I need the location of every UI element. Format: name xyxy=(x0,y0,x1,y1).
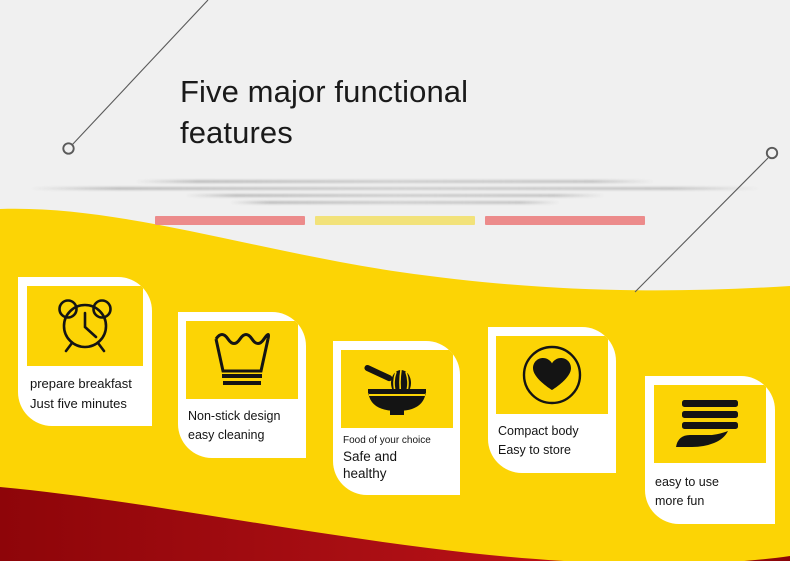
feature-card-easy-to-use[interactable]: easy to use more fun xyxy=(645,376,775,524)
feature-card-text: Compact body Easy to store xyxy=(488,414,616,473)
feature-line-1: Compact body xyxy=(498,424,579,438)
feature-small-label: Food of your choice xyxy=(343,434,452,447)
feature-line-2: healthy xyxy=(343,466,452,483)
page-title: Five major functional features xyxy=(180,72,610,154)
copy-line xyxy=(135,180,655,183)
alarm-clock-icon xyxy=(46,295,124,357)
feature-card-text: easy to use more fun xyxy=(645,463,775,524)
copy-line xyxy=(30,187,760,190)
copy-line xyxy=(185,194,605,197)
bar-pink-left xyxy=(155,216,305,225)
icon-container xyxy=(654,385,766,463)
body-copy-placeholder xyxy=(30,176,760,208)
bar-pink-right xyxy=(485,216,645,225)
feature-line-1: prepare breakfast xyxy=(30,376,132,391)
feature-line-2: Just five minutes xyxy=(30,396,127,411)
feature-line-2: more fun xyxy=(655,494,704,508)
icon-container xyxy=(186,321,298,399)
wash-basin-icon xyxy=(210,331,274,389)
feature-line-1: Non-stick design xyxy=(188,409,280,423)
copy-line xyxy=(230,201,560,204)
feature-card-compact-body[interactable]: Compact body Easy to store xyxy=(488,327,616,473)
icon-container xyxy=(27,286,143,366)
promo-banner: Five major functional features xyxy=(0,0,790,561)
feature-card-non-stick-design[interactable]: Non-stick design easy cleaning xyxy=(178,312,306,458)
accent-bars xyxy=(155,216,645,225)
feature-line-2: easy cleaning xyxy=(188,428,264,442)
feature-card-text: prepare breakfast Just five minutes xyxy=(18,366,152,426)
hand-holding-layers-icon xyxy=(670,395,750,453)
feature-line-2: Easy to store xyxy=(498,443,571,457)
feature-line-1: Safe and xyxy=(343,449,452,466)
feature-card-prepare-breakfast[interactable]: prepare breakfast Just five minutes xyxy=(18,277,152,426)
bar-yellow-middle xyxy=(315,216,475,225)
heart-in-circle-icon xyxy=(519,342,585,408)
icon-container xyxy=(341,350,453,428)
feature-card-text: Non-stick design easy cleaning xyxy=(178,399,306,458)
feature-card-safe-and-healthy[interactable]: Food of your choice Safe and healthy xyxy=(333,341,460,495)
feature-line-1: easy to use xyxy=(655,475,719,489)
bowl-whisk-icon xyxy=(358,358,436,420)
feature-card-text: Food of your choice Safe and healthy xyxy=(333,428,460,495)
icon-container xyxy=(496,336,608,414)
